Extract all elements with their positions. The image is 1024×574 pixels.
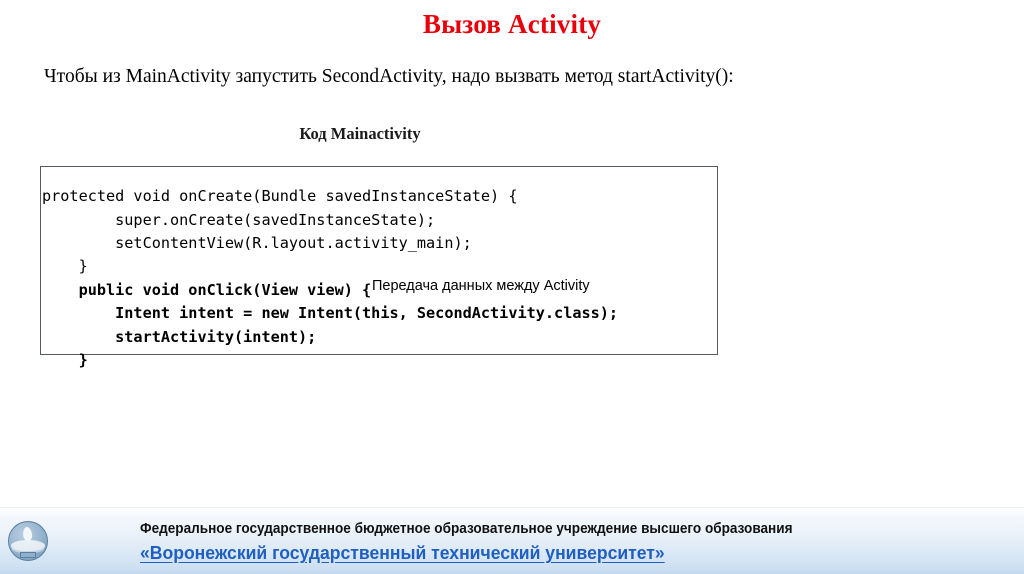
- code-line: Intent intent = new Intent(this, SecondA…: [42, 302, 802, 325]
- code-caption: Код Mainactivity: [0, 124, 720, 144]
- slide-canvas: Вызов Activity Чтобы из MainActivity зап…: [0, 0, 1024, 574]
- footer-university-name[interactable]: «Воронежский государственный технический…: [140, 541, 665, 565]
- intro-paragraph: Чтобы из MainActivity запустить SecondAc…: [44, 64, 984, 90]
- code-line: setContentView(R.layout.activity_main);: [42, 232, 802, 255]
- university-emblem-icon: [6, 520, 50, 566]
- emblem-wing: [11, 540, 45, 551]
- code-line: }: [42, 349, 802, 372]
- emblem-base: [20, 552, 36, 558]
- code-line: super.onCreate(savedInstanceState);: [42, 209, 802, 232]
- overlay-annotation-label: Передача данных между Activity: [372, 278, 590, 295]
- footer-banner: Федеральное государственное бюджетное об…: [0, 507, 1024, 574]
- page-title: Вызов Activity: [0, 8, 1024, 41]
- code-line: protected void onCreate(Bundle savedInst…: [42, 185, 802, 208]
- code-line: }: [42, 255, 802, 278]
- code-line: startActivity(intent);: [42, 326, 802, 349]
- footer-institution-type: Федеральное государственное бюджетное об…: [140, 520, 793, 539]
